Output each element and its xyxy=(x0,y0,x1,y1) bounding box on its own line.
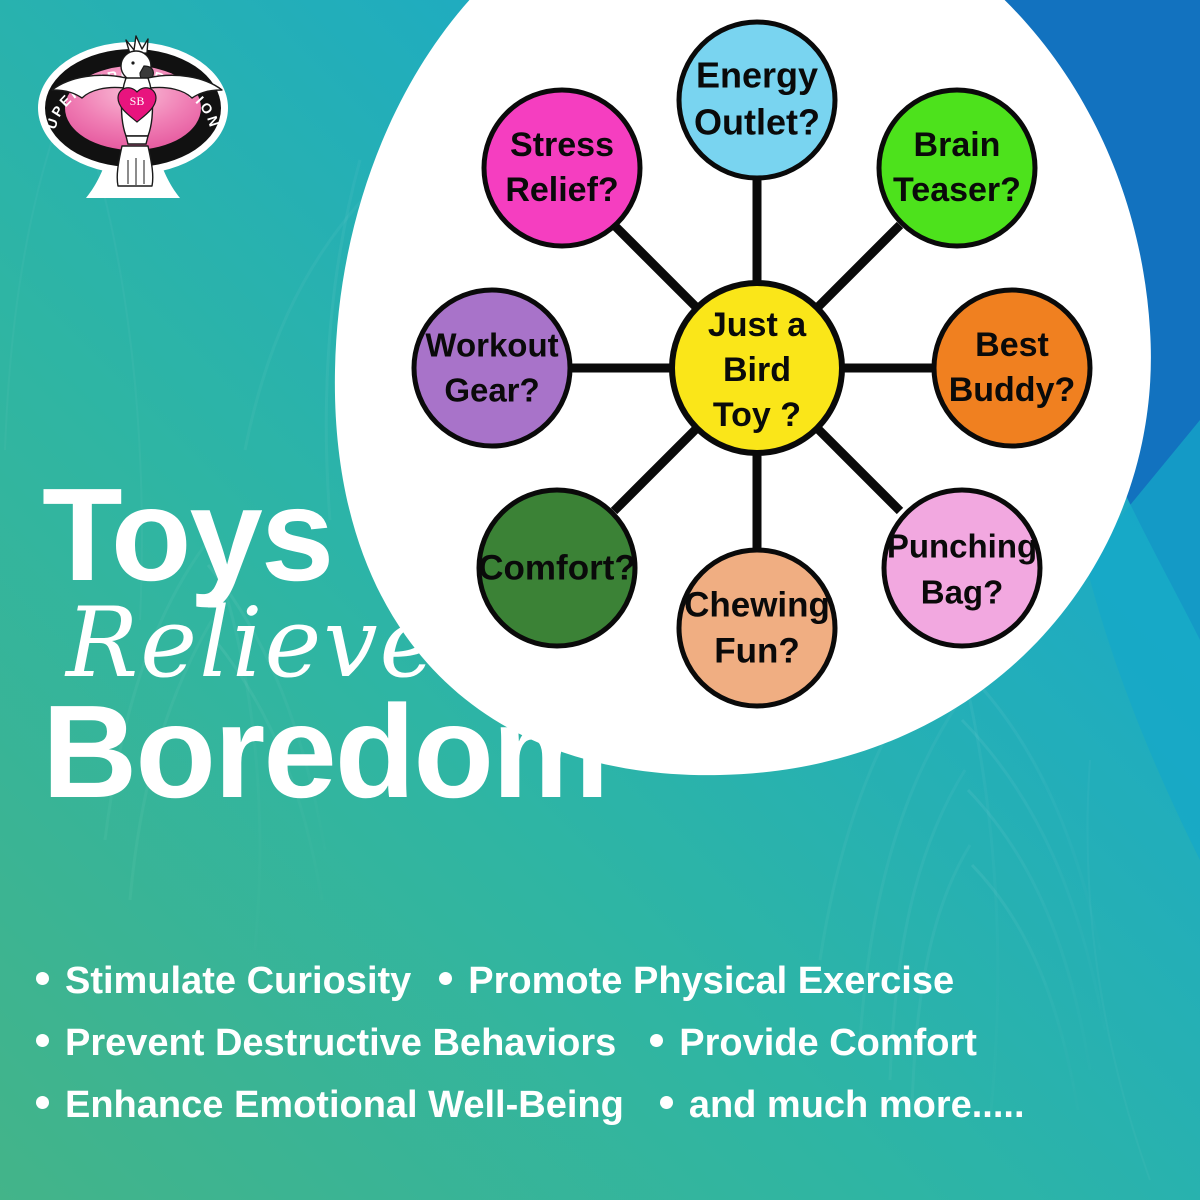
bullet-dot-icon xyxy=(36,1034,49,1047)
node-circle-energy-outlet xyxy=(679,22,835,178)
spoke-punching-bag xyxy=(817,428,900,511)
benefits-row-2: Prevent Destructive Behaviors Provide Co… xyxy=(36,1022,1171,1084)
benefit-item-and-much-more: and much more..... xyxy=(660,1084,1025,1127)
node-stress-relief[interactable]: Stress Relief? xyxy=(484,90,640,246)
node-best-buddy[interactable]: Best Buddy? xyxy=(934,290,1090,446)
node-circle-best-buddy xyxy=(934,290,1090,446)
bullet-dot-icon xyxy=(36,972,49,985)
node-label-best-buddy-line1: Best xyxy=(975,326,1049,364)
node-label-workout-gear-line1: Workout xyxy=(425,327,558,364)
bullet-dot-icon xyxy=(650,1034,663,1047)
node-circle-brain-teaser xyxy=(879,90,1035,246)
node-brain-teaser[interactable]: Brain Teaser? xyxy=(879,90,1035,246)
bullet-dot-icon xyxy=(660,1096,673,1109)
node-label-best-buddy-line2: Buddy? xyxy=(949,371,1076,409)
center-label-line2: Bird xyxy=(723,351,791,389)
node-label-brain-teaser-line2: Teaser? xyxy=(893,171,1021,209)
benefits-row-3: Enhance Emotional Well-Being and much mo… xyxy=(36,1084,1171,1146)
benefit-label: Provide Comfort xyxy=(679,1022,977,1065)
benefit-label: and much more..... xyxy=(689,1084,1025,1127)
headline-block: Toys Relieve Boredom xyxy=(42,470,742,818)
node-circle-punching-bag xyxy=(884,490,1040,646)
node-center-just-a-bird-toy[interactable]: Just a Bird Toy ? xyxy=(672,283,842,453)
node-label-energy-outlet-line1: Energy xyxy=(696,55,818,96)
benefit-label: Prevent Destructive Behaviors xyxy=(65,1022,616,1065)
node-label-energy-outlet-line2: Outlet? xyxy=(694,102,820,143)
node-circle-workout-gear xyxy=(414,290,570,446)
node-label-brain-teaser-line1: Brain xyxy=(914,126,1001,164)
node-label-punching-bag-line2: Bag? xyxy=(921,574,1004,611)
spoke-brain-teaser xyxy=(817,225,900,308)
benefit-item-promote-physical-exercise: Promote Physical Exercise xyxy=(439,960,954,1003)
benefits-row-1: Stimulate Curiosity Promote Physical Exe… xyxy=(36,960,1171,1022)
benefit-item-prevent-destructive-behaviors: Prevent Destructive Behaviors xyxy=(36,1022,616,1065)
benefits-list: Stimulate Curiosity Promote Physical Exe… xyxy=(36,960,1171,1146)
bullet-dot-icon xyxy=(439,972,452,985)
node-circle-stress-relief xyxy=(484,90,640,246)
node-label-workout-gear-line2: Gear? xyxy=(444,372,539,409)
center-label-line3: Toy ? xyxy=(713,396,801,434)
bullet-dot-icon xyxy=(36,1096,49,1109)
benefit-label: Stimulate Curiosity xyxy=(65,960,411,1003)
node-label-stress-relief-line2: Relief? xyxy=(505,171,618,209)
node-energy-outlet[interactable]: Energy Outlet? xyxy=(679,22,835,178)
node-label-punching-bag-line1: Punching xyxy=(887,528,1037,565)
benefit-item-provide-comfort: Provide Comfort xyxy=(650,1022,977,1065)
headline-line-boredom: Boredom xyxy=(42,686,742,818)
node-workout-gear[interactable]: Workout Gear? xyxy=(414,290,570,446)
benefit-item-stimulate-curiosity: Stimulate Curiosity xyxy=(36,960,411,1003)
spoke-stress-relief xyxy=(614,225,697,308)
node-label-stress-relief-line1: Stress xyxy=(510,126,614,164)
headline-line-toys: Toys xyxy=(42,470,742,599)
node-punching-bag[interactable]: Punching Bag? xyxy=(884,490,1040,646)
center-label-line1: Just a xyxy=(708,306,807,344)
benefit-label: Promote Physical Exercise xyxy=(468,960,954,1003)
benefit-label: Enhance Emotional Well-Being xyxy=(65,1084,624,1127)
benefit-item-enhance-emotional-well-being: Enhance Emotional Well-Being xyxy=(36,1084,624,1127)
